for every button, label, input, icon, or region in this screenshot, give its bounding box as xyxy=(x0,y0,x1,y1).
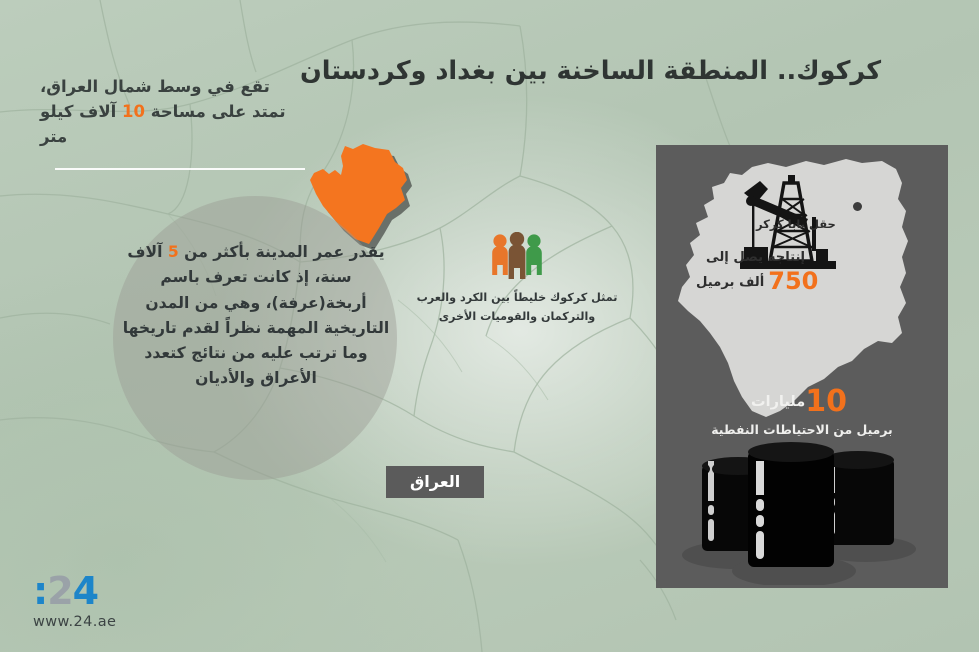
logo-digit-four: 4 xyxy=(73,569,98,613)
oil-field-label: حقل بابا كركر xyxy=(756,217,856,231)
production-line-1: إنتاجه يصل إلى xyxy=(706,250,866,265)
oil-panel: حقل بابا كركر إنتاجه يصل إلى 750ألف برمي… xyxy=(656,145,948,588)
history-blurb: يقدر عمر المدينة بأكثر من 5 آلاف سنة، إذ… xyxy=(120,240,392,392)
infographic-canvas: كركوك.. المنطقة الساخنة بين بغداد وكردست… xyxy=(0,0,979,652)
production-unit: ألف برميل xyxy=(696,275,764,290)
area-blurb-text: تقع في وسط شمال العراق، تمتد على مساحة 1… xyxy=(40,77,286,146)
history-blurb-number: 5 xyxy=(168,243,179,261)
history-blurb-after: آلاف سنة، إذ كانت تعرف باسم أربخة(عرفة)،… xyxy=(123,243,389,387)
logo-colon: : xyxy=(33,569,47,613)
area-blurb-number: 10 xyxy=(122,102,145,121)
site-logo[interactable]: :24 www.24.ae xyxy=(33,572,116,630)
production-line-2: 750ألف برميل xyxy=(696,269,866,293)
oil-barrels-icon xyxy=(670,437,934,585)
logo-url: www.24.ae xyxy=(33,614,116,630)
history-blurb-before: يقدر عمر المدينة بأكثر من xyxy=(179,243,385,261)
logo-mark: :24 xyxy=(33,572,116,610)
reserves-row-1: 10مليارات xyxy=(656,387,948,417)
production-number: 750 xyxy=(768,267,818,295)
reserves-word: مليارات xyxy=(751,394,805,410)
reserves-row-2: برميل من الاحتياطات النفطية xyxy=(656,422,948,437)
divider-rule xyxy=(55,168,305,170)
reserves-block: 10مليارات برميل من الاحتياطات النفطية xyxy=(656,387,948,437)
area-blurb: تقع في وسط شمال العراق، تمتد على مساحة 1… xyxy=(40,74,308,149)
ethnic-mix-block: تمثل كركوك خليطاً بين الكرد والعرب والتر… xyxy=(398,232,636,327)
logo-digit-two: 2 xyxy=(47,569,72,613)
oil-field-marker-dot xyxy=(853,202,862,211)
page-title: كركوك.. المنطقة الساخنة بين بغداد وكردست… xyxy=(300,56,948,88)
three-people-icon xyxy=(489,232,545,280)
ethnic-mix-caption: تمثل كركوك خليطاً بين الكرد والعرب والتر… xyxy=(398,288,636,327)
reserves-number: 10 xyxy=(805,384,847,419)
country-label: العراق xyxy=(386,466,484,498)
